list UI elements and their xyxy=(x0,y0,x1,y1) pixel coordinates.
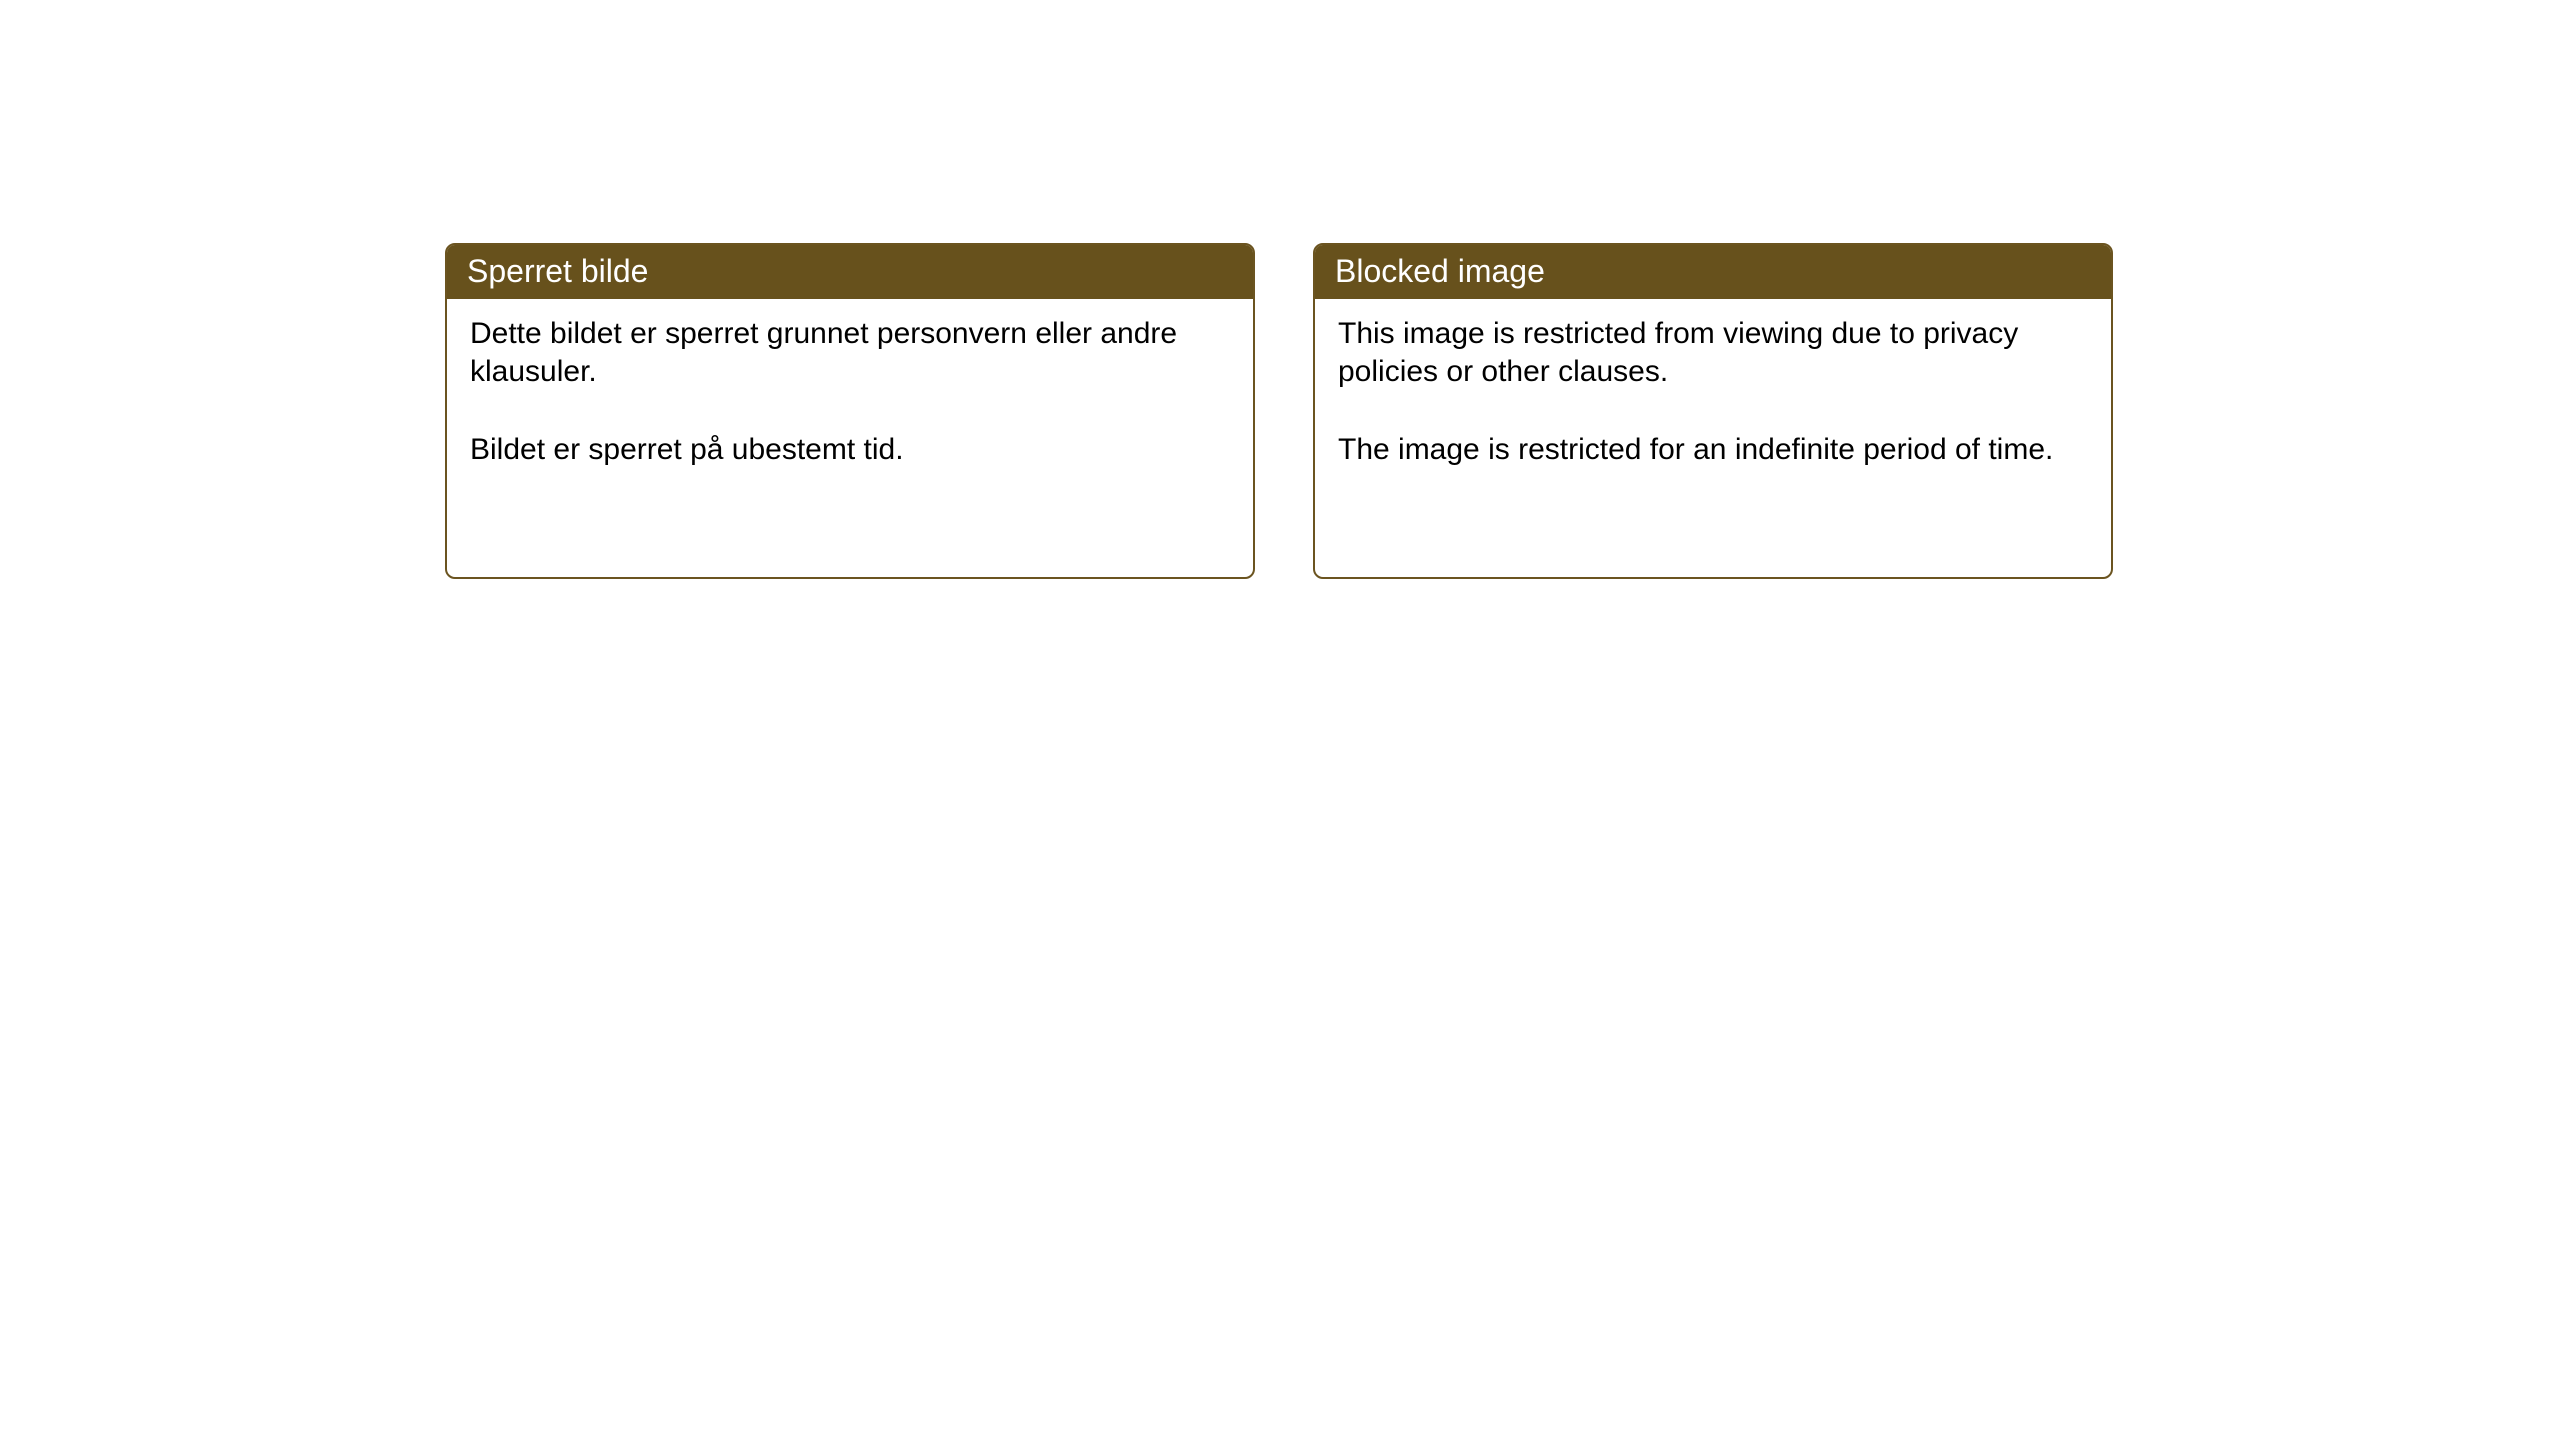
panel-title-english: Blocked image xyxy=(1335,254,1545,288)
blocked-image-panel-norwegian: Sperret bilde Dette bildet er sperret gr… xyxy=(445,243,1255,579)
panel-header-english: Blocked image xyxy=(1313,243,2113,299)
panel-paragraph-primary-norwegian: Dette bildet er sperret grunnet personve… xyxy=(470,315,1227,391)
panel-paragraph-secondary-english: The image is restricted for an indefinit… xyxy=(1338,431,2085,469)
panel-body-norwegian: Dette bildet er sperret grunnet personve… xyxy=(447,299,1253,487)
panel-paragraph-secondary-norwegian: Bildet er sperret på ubestemt tid. xyxy=(470,431,1227,469)
panel-body-english: This image is restricted from viewing du… xyxy=(1315,299,2111,487)
page-root: Sperret bilde Dette bildet er sperret gr… xyxy=(0,0,2560,1440)
panel-header-norwegian: Sperret bilde xyxy=(445,243,1255,299)
panel-title-norwegian: Sperret bilde xyxy=(467,254,648,288)
blocked-image-panel-english: Blocked image This image is restricted f… xyxy=(1313,243,2113,579)
panel-paragraph-primary-english: This image is restricted from viewing du… xyxy=(1338,315,2085,391)
